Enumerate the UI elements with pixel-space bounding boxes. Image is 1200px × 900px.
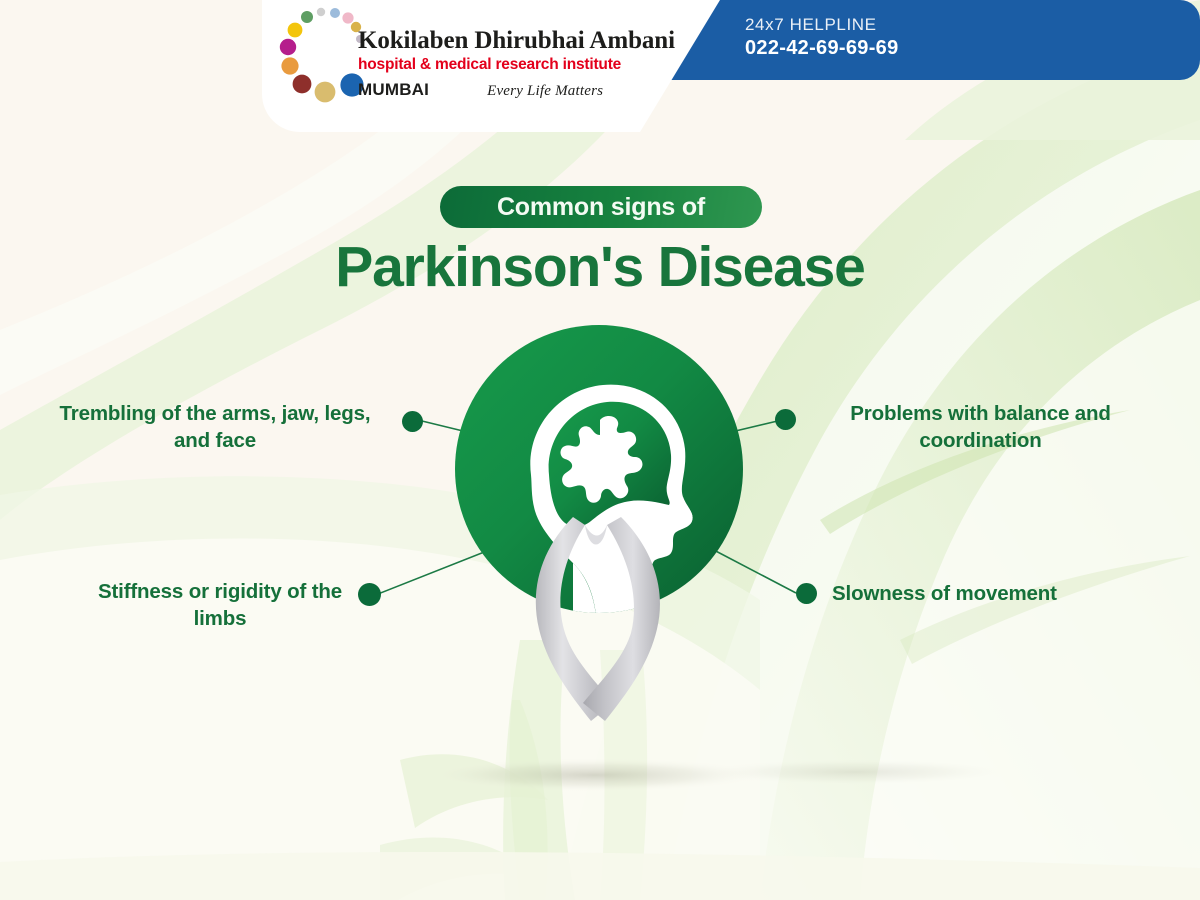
sign-label-balance: Problems with balance and coordination [808, 400, 1153, 454]
sign-label-trembling: Trembling of the arms, jaw, legs, and fa… [40, 400, 390, 454]
bullet-dot-slowness [796, 583, 817, 604]
parkinsons-illustration [455, 325, 755, 745]
infographic-canvas: Kokilaben Dhirubhai Ambani hospital & me… [0, 0, 1200, 900]
bullet-dot-balance [775, 409, 796, 430]
sign-label-stiffness: Stiffness or rigidity of the limbs [85, 578, 355, 632]
bullet-dot-stiffness [358, 583, 381, 606]
sign-label-slowness: Slowness of movement [832, 580, 1132, 607]
bullet-dot-trembling [402, 411, 423, 432]
